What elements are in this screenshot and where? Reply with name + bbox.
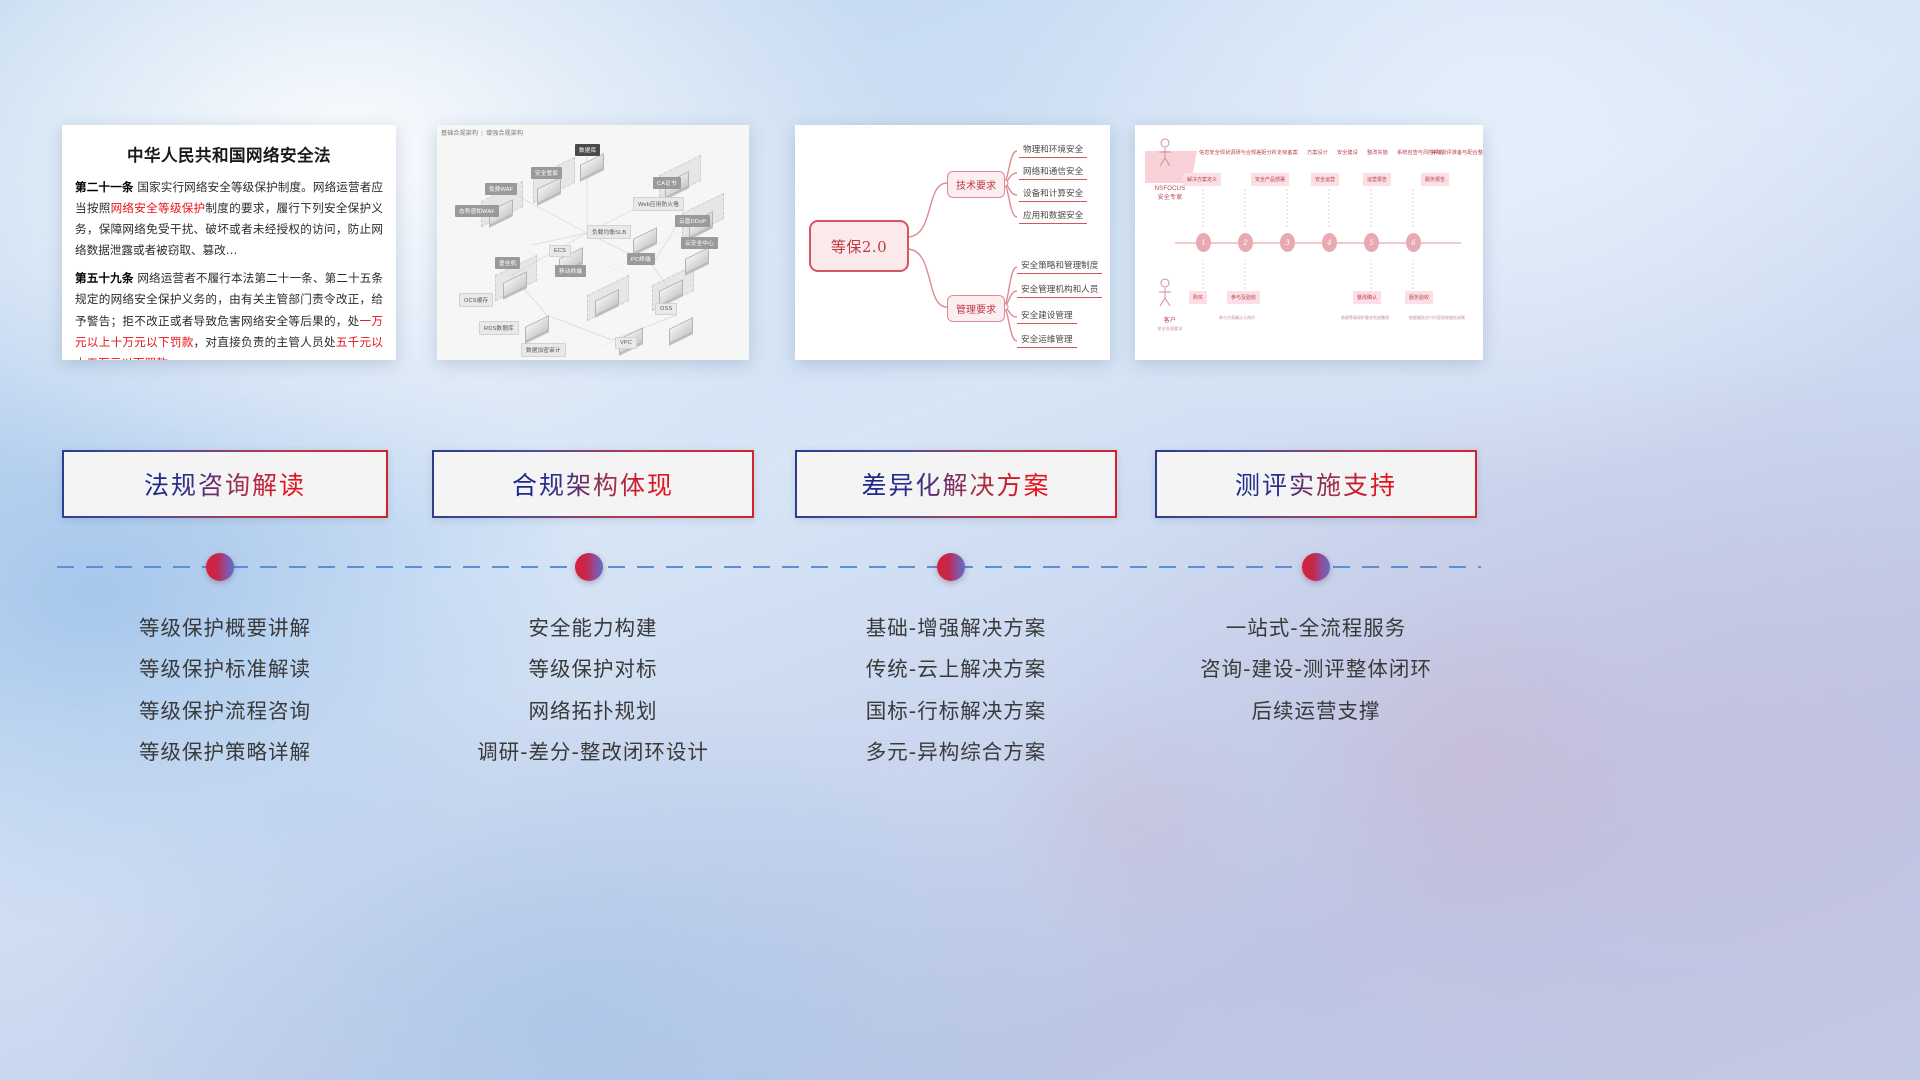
timeline-top-item: 定级备案 xyxy=(1277,149,1298,156)
mindmap-canvas: 等保2.0 技术要求 管理要求 物理和环境安全 网络和通信安全 设备和计算安全 … xyxy=(795,125,1110,360)
architecture-canvas: 基础合规架构|增强合规架构 xyxy=(437,125,749,360)
mindmap-leaf: 设备和计算安全 xyxy=(1019,187,1087,202)
list-column-1: 等级保护概要讲解 等级保护标准解读 等级保护流程咨询 等级保护策略详解 xyxy=(62,608,388,774)
timeline-step: 5 xyxy=(1364,233,1379,252)
mindmap-branch-technical: 技术要求 xyxy=(947,171,1005,198)
article-59-text-b: ，对直接负责的主管人员处 xyxy=(194,335,336,349)
timeline-dashed-line xyxy=(57,566,1481,568)
list-item: 调研-差分-整改闭环设计 xyxy=(432,732,754,773)
arch-label: VPC xyxy=(615,337,637,349)
list-item: 安全能力构建 xyxy=(432,608,754,649)
slide-stage: 中华人民共和国网络安全法 第二十一条 国家实行网络安全等级保护制度。网络运营者应… xyxy=(0,0,1920,1080)
timeline-top-item: 方案设计 xyxy=(1307,149,1328,156)
arch-label: 安全管家 xyxy=(531,167,562,179)
arch-label: 数据加密审计 xyxy=(521,343,566,357)
timeline-step: 4 xyxy=(1322,233,1337,252)
arch-label: 移动终端 xyxy=(555,265,586,277)
list-item: 咨询-建设-测评整体闭环 xyxy=(1155,649,1477,690)
card-architecture-diagram[interactable]: 基础合规架构|增强合规架构 xyxy=(437,125,749,360)
mindmap-leaf: 网络和通信安全 xyxy=(1019,165,1087,180)
list-column-3: 基础-增强解决方案 传统-云上解决方案 国标-行标解决方案 多元-异构综合方案 xyxy=(795,608,1117,774)
timeline-top-item: 整改实施 xyxy=(1367,149,1388,156)
arch-label: 负载均衡SLB xyxy=(587,225,631,239)
brand-label: NSFOCUS 安全专家 xyxy=(1141,185,1199,202)
list-column-2: 安全能力构建 等级保护对标 网络拓扑规划 调研-差分-整改闭环设计 xyxy=(432,608,754,774)
list-item: 后续运营支撑 xyxy=(1155,691,1477,732)
mindmap-leaf: 安全运维管理 xyxy=(1017,333,1077,348)
phase-tag: 安全产品部署 xyxy=(1251,173,1289,186)
banner-label: 差异化解决方案 xyxy=(861,466,1050,502)
mindmap-branch-management: 管理要求 xyxy=(947,295,1005,322)
law-article-59: 第五十九条 网络运营者不履行本法第二十一条、第二十五条规定的网络安全保护义务的，… xyxy=(75,268,383,360)
law-text-block: 中华人民共和国网络安全法 第二十一条 国家实行网络安全等级保护制度。网络运营者应… xyxy=(62,125,396,360)
mindmap-leaf: 应用和数据安全 xyxy=(1019,209,1087,224)
list-item: 多元-异构综合方案 xyxy=(795,732,1117,773)
article-59-label: 第五十九条 xyxy=(75,271,134,285)
arch-label: OCS缓存 xyxy=(459,293,493,307)
article-21-label: 第二十一条 xyxy=(75,180,134,194)
timeline-node-2[interactable] xyxy=(575,553,603,581)
banner-column-4[interactable]: 测评实施支持 xyxy=(1155,450,1477,518)
timeline-step: 3 xyxy=(1280,233,1295,252)
timeline-node-4[interactable] xyxy=(1302,553,1330,581)
banner-label: 测评实施支持 xyxy=(1235,466,1397,502)
bottom-tag: 购买 xyxy=(1189,291,1207,304)
arch-label: 云安全中心 xyxy=(681,237,718,249)
timeline-node-3[interactable] xyxy=(937,553,965,581)
banner-column-1[interactable]: 法规咨询解读 xyxy=(62,450,388,518)
list-item: 等级保护流程咨询 xyxy=(62,691,388,732)
list-item: 国标-行标解决方案 xyxy=(795,691,1117,732)
list-item: 等级保护对标 xyxy=(432,649,754,690)
list-item: 一站式-全流程服务 xyxy=(1155,608,1477,649)
timeline-top-item: 信息安全现状调研与合规差距分析 xyxy=(1199,149,1277,156)
list-item: 基础-增强解决方案 xyxy=(795,608,1117,649)
card-cybersecurity-law[interactable]: 中华人民共和国网络安全法 第二十一条 国家实行网络安全等级保护制度。网络运营者应… xyxy=(62,125,396,360)
brand-role: 安全专家 xyxy=(1141,194,1199,203)
arch-label: ECS xyxy=(549,245,571,257)
law-article-21: 第二十一条 国家实行网络安全等级保护制度。网络运营者应当按照网络安全等级保护制度… xyxy=(75,177,383,261)
timeline-node-1[interactable] xyxy=(206,553,234,581)
article-21-highlight: 网络安全等级保护 xyxy=(111,201,206,215)
mindmap-leaf: 物理和环境安全 xyxy=(1019,143,1087,158)
phase-tag: 解决方案定义 xyxy=(1183,173,1221,186)
bottom-sub: 依据服务交付内容验收服务成果 xyxy=(1409,315,1465,321)
arch-label: OSS xyxy=(655,303,677,315)
arch-label: CA证书 xyxy=(653,177,681,189)
bottom-sub: 参与方案确认与测评 xyxy=(1219,315,1255,321)
arch-label: Web应用防火墙 xyxy=(633,197,684,211)
bottom-tag: 整改确认 xyxy=(1353,291,1381,304)
arch-label: PC终端 xyxy=(627,253,655,265)
customer-label: 客户 安全合规要求 xyxy=(1141,317,1199,331)
phase-tag: 运营报告 xyxy=(1363,173,1391,186)
mindmap-leaf: 安全建设管理 xyxy=(1017,309,1077,324)
list-item: 网络拓扑规划 xyxy=(432,691,754,732)
customer-sub: 安全合规要求 xyxy=(1141,326,1199,332)
banner-column-3[interactable]: 差异化解决方案 xyxy=(795,450,1117,518)
list-item: 等级保护标准解读 xyxy=(62,649,388,690)
timeline-step: 2 xyxy=(1238,233,1253,252)
arch-label: 态势感知WAF xyxy=(455,205,499,217)
bottom-sub: 依据等级保护要求完成整改 xyxy=(1341,315,1389,321)
card-mindmap[interactable]: 等保2.0 技术要求 管理要求 物理和环境安全 网络和通信安全 设备和计算安全 … xyxy=(795,125,1110,360)
law-title: 中华人民共和国网络安全法 xyxy=(75,142,383,166)
banner-column-2[interactable]: 合规架构体现 xyxy=(432,450,754,518)
arch-label: 云盾DDoP xyxy=(675,215,710,227)
arch-label: RDS数据库 xyxy=(479,321,519,335)
timeline-step: 6 xyxy=(1406,233,1421,252)
bottom-tag: 服务验收 xyxy=(1405,291,1433,304)
list-item: 传统-云上解决方案 xyxy=(795,649,1117,690)
arch-label: 数据库 xyxy=(575,144,600,156)
timeline-canvas: NSFOCUS 安全专家 客户 安全合规要求 信息安全现状调研与合规差距分析 定… xyxy=(1135,125,1483,360)
customer-name: 客户 xyxy=(1141,317,1199,326)
arch-label: 免费WAF xyxy=(485,183,517,195)
list-item: 等级保护概要讲解 xyxy=(62,608,388,649)
phase-tag: 服务报告 xyxy=(1421,173,1449,186)
timeline-step: 1 xyxy=(1196,233,1211,252)
timeline-top-item: 安全建设 xyxy=(1337,149,1358,156)
timeline-top-item: 等级测评准备与配合整改 xyxy=(1431,149,1483,156)
mindmap-leaf: 安全管理机构和人员 xyxy=(1017,283,1102,298)
mindmap-root: 等保2.0 xyxy=(809,220,909,272)
arch-label: 堡垒机 xyxy=(495,257,520,269)
bottom-tag: 参与及验收 xyxy=(1227,291,1260,304)
card-service-timeline[interactable]: NSFOCUS 安全专家 客户 安全合规要求 信息安全现状调研与合规差距分析 定… xyxy=(1135,125,1483,360)
mindmap-leaf: 安全策略和管理制度 xyxy=(1017,259,1102,274)
card-row: 中华人民共和国网络安全法 第二十一条 国家实行网络安全等级保护制度。网络运营者应… xyxy=(0,0,1920,380)
phase-tag: 安全运营 xyxy=(1311,173,1339,186)
list-item: 等级保护策略详解 xyxy=(62,732,388,773)
banner-label: 法规咨询解读 xyxy=(144,466,306,502)
brand-name: NSFOCUS xyxy=(1141,185,1199,194)
banner-label: 合规架构体现 xyxy=(512,466,674,502)
list-column-4: 一站式-全流程服务 咨询-建设-测评整体闭环 后续运营支撑 xyxy=(1155,608,1477,732)
